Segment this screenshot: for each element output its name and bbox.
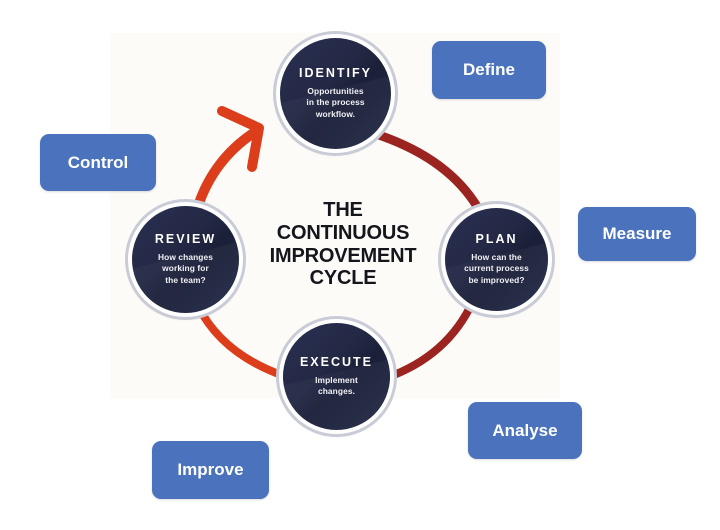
desc-line: in the process — [306, 97, 364, 108]
label-chip-analyse[interactable]: Analyse — [468, 402, 582, 459]
cycle-node-review-title: REVIEW — [155, 233, 216, 247]
label-chip-improve[interactable]: Improve — [152, 441, 269, 499]
arc-identify-to-plan — [376, 134, 478, 208]
cycle-node-execute-description: Implement changes. — [305, 375, 368, 398]
desc-line: workflow. — [306, 109, 364, 120]
cycle-node-execute-title: EXECUTE — [300, 356, 373, 370]
cycle-node-execute[interactable]: EXECUTE Implement changes. — [283, 323, 390, 430]
cycle-node-identify-description: Opportunities in the process workflow. — [296, 86, 374, 120]
cycle-node-identify-title: IDENTIFY — [299, 67, 372, 81]
cycle-node-plan-description: How can the current process be improved? — [454, 252, 539, 286]
label-chip-control[interactable]: Control — [40, 134, 156, 191]
cycle-node-review-description: How changes working for the team? — [148, 252, 223, 286]
center-title-line: CYCLE — [243, 267, 443, 290]
desc-line: Implement — [315, 375, 358, 386]
label-chip-define[interactable]: Define — [432, 41, 546, 99]
desc-line: be improved? — [464, 275, 529, 286]
center-title-line: CONTINUOUS — [243, 222, 443, 245]
cycle-node-identify[interactable]: IDENTIFY Opportunities in the process wo… — [280, 38, 391, 149]
cycle-node-plan[interactable]: PLAN How can the current process be impr… — [445, 208, 548, 311]
desc-line: Opportunities — [306, 86, 364, 97]
desc-line: changes. — [315, 386, 358, 397]
desc-line: working for — [158, 263, 213, 274]
label-chip-measure[interactable]: Measure — [578, 207, 696, 261]
diagram-center-title: THE CONTINUOUS IMPROVEMENT CYCLE — [243, 199, 443, 290]
cycle-node-plan-title: PLAN — [475, 233, 517, 247]
arc-plan-to-execute — [386, 301, 473, 378]
cycle-node-review[interactable]: REVIEW How changes working for the team? — [132, 206, 239, 313]
desc-line: How changes — [158, 252, 213, 263]
diagram-canvas: IDENTIFY Opportunities in the process wo… — [0, 0, 720, 530]
desc-line: current process — [464, 263, 529, 274]
center-title-line: IMPROVEMENT — [243, 245, 443, 268]
center-title-line: THE — [243, 199, 443, 222]
desc-line: How can the — [464, 252, 529, 263]
desc-line: the team? — [158, 275, 213, 286]
arc-execute-to-review — [198, 306, 284, 376]
